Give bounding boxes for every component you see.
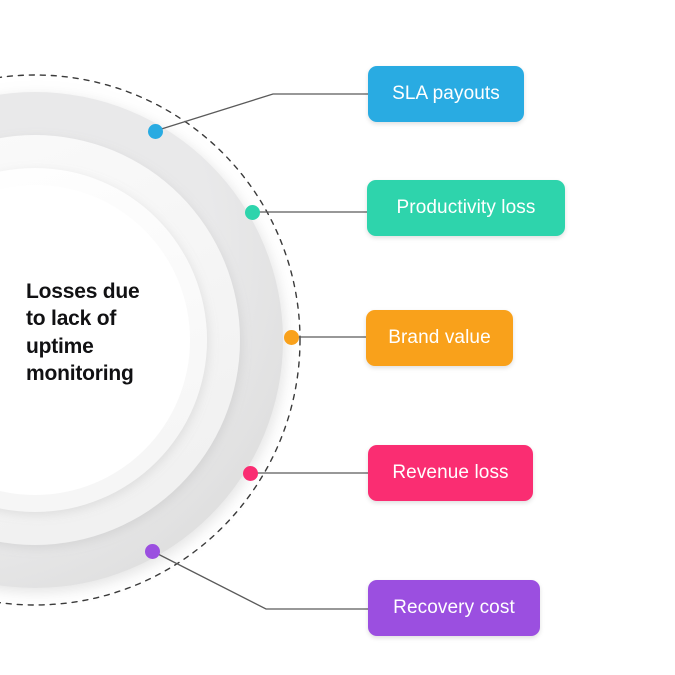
node-label-text: Revenue loss bbox=[392, 462, 508, 484]
node-label-productivity-loss[interactable]: Productivity loss bbox=[367, 180, 565, 236]
node-label-brand-value[interactable]: Brand value bbox=[366, 310, 513, 366]
node-label-text: Brand value bbox=[388, 327, 491, 349]
node-dot-recovery-cost[interactable] bbox=[145, 544, 160, 559]
node-label-text: Recovery cost bbox=[393, 597, 515, 619]
node-dot-brand-value[interactable] bbox=[284, 330, 299, 345]
node-label-text: Productivity loss bbox=[397, 197, 536, 219]
connector-recovery-cost bbox=[152, 551, 368, 609]
node-label-sla-payouts[interactable]: SLA payouts bbox=[368, 66, 524, 122]
node-dot-revenue-loss[interactable] bbox=[243, 466, 258, 481]
node-label-text: SLA payouts bbox=[392, 83, 500, 105]
node-label-recovery-cost[interactable]: Recovery cost bbox=[368, 580, 540, 636]
connector-lines bbox=[0, 0, 675, 675]
diagram-canvas: Losses due to lack of uptime monitoring … bbox=[0, 0, 675, 675]
node-dot-productivity-loss[interactable] bbox=[245, 205, 260, 220]
node-dot-sla-payouts[interactable] bbox=[148, 124, 163, 139]
node-label-revenue-loss[interactable]: Revenue loss bbox=[368, 445, 533, 501]
connector-sla-payouts bbox=[155, 94, 368, 131]
